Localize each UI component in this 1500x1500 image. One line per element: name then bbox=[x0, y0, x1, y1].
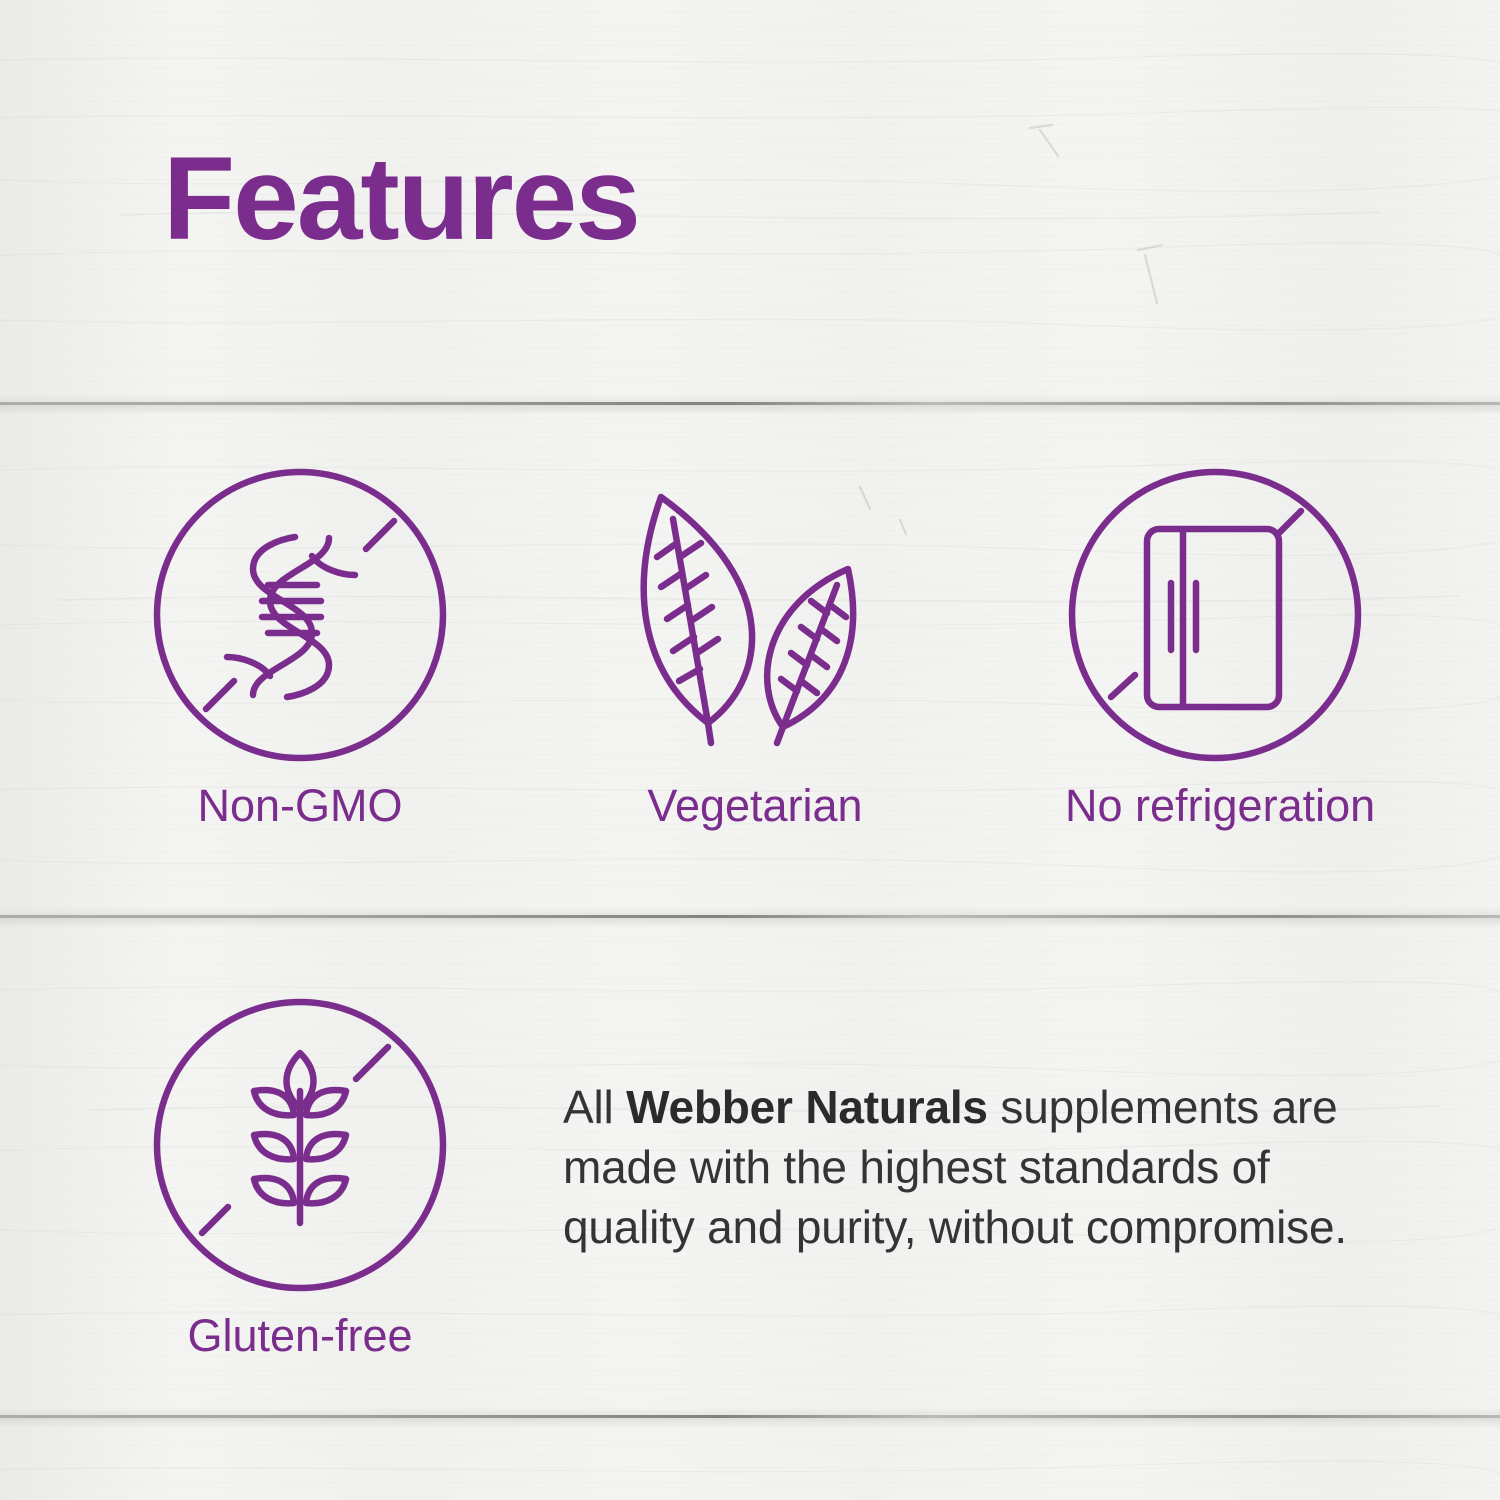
feature-label-non-gmo: Non-GMO bbox=[150, 781, 450, 831]
leaves-icon bbox=[605, 465, 905, 765]
no-gmo-dna-icon bbox=[150, 465, 450, 765]
feature-item-vegetarian: Vegetarian bbox=[605, 465, 905, 831]
feature-item-non-gmo: Non-GMO bbox=[150, 465, 450, 831]
feature-item-no-refrigeration: No refrigeration bbox=[1065, 465, 1365, 831]
no-wheat-icon bbox=[150, 995, 450, 1295]
feature-label-vegetarian: Vegetarian bbox=[605, 781, 905, 831]
feature-item-gluten-free: Gluten-free bbox=[150, 995, 450, 1361]
feature-label-no-refrigeration: No refrigeration bbox=[1065, 781, 1365, 831]
feature-label-gluten-free: Gluten-free bbox=[150, 1311, 450, 1361]
no-refrigerator-icon bbox=[1065, 465, 1365, 765]
brand-statement-lead: All bbox=[563, 1081, 626, 1133]
page-title: Features bbox=[163, 140, 639, 258]
brand-name: Webber Naturals bbox=[626, 1081, 988, 1133]
feature-graphic: Features bbox=[0, 0, 1500, 1500]
brand-statement: All Webber Naturals supplements are made… bbox=[563, 1078, 1393, 1257]
